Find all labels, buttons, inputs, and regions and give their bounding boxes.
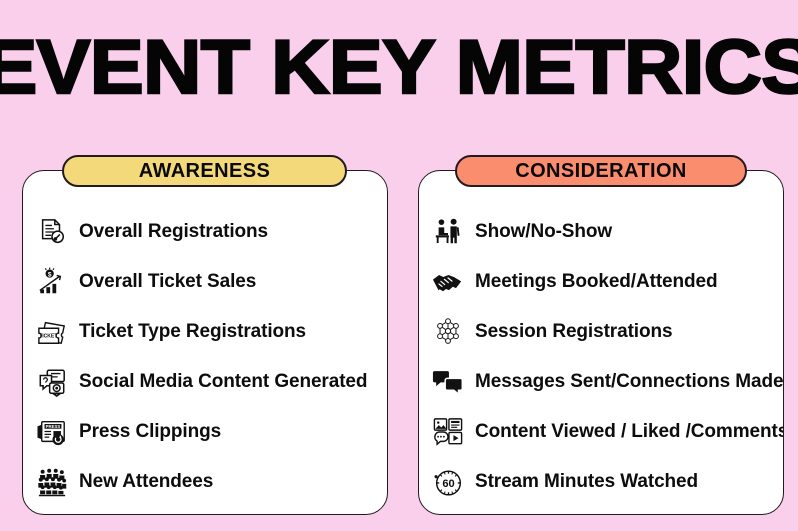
awareness-list: Overall Registrations $ xyxy=(23,207,387,507)
list-item[interactable]: 60 Stream Minutes Watched xyxy=(431,457,771,507)
crowd-icon xyxy=(35,465,69,499)
people-standing-sitting-icon xyxy=(431,215,465,249)
list-item[interactable]: Session Registrations xyxy=(431,307,771,357)
tickets-icon: TICKET xyxy=(35,315,69,349)
document-pen-icon xyxy=(35,215,69,249)
list-item-label: Social Media Content Generated xyxy=(79,371,367,393)
list-item-label: Stream Minutes Watched xyxy=(475,471,698,493)
list-item[interactable]: Show/No-Show xyxy=(431,207,771,257)
awareness-card: Overall Registrations $ xyxy=(22,170,388,515)
list-item-label: New Attendees xyxy=(79,471,213,493)
list-item-label: Content Viewed / Liked /Comments xyxy=(475,421,784,443)
list-item-label: Overall Ticket Sales xyxy=(79,271,256,293)
list-item[interactable]: Social Media Content Generated xyxy=(35,357,375,407)
list-item-label: Press Clippings xyxy=(79,421,221,443)
consideration-header-pill: CONSIDERATION xyxy=(455,155,747,187)
list-item[interactable]: TICKET Ticket Type Registrations xyxy=(35,307,375,357)
list-item[interactable]: Content Viewed / Liked /Comments xyxy=(431,407,771,457)
newspaper-press-icon: PRESS xyxy=(35,415,69,449)
consideration-header-label: CONSIDERATION xyxy=(515,160,687,183)
list-item[interactable]: $ Overall Ticket Sales xyxy=(35,257,375,307)
list-item[interactable]: Meetings Booked/Attended xyxy=(431,257,771,307)
list-item[interactable]: Messages Sent/Connections Made xyxy=(431,357,771,407)
column-awareness: Overall Registrations $ xyxy=(22,170,388,515)
awareness-header-label: AWARENESS xyxy=(139,160,270,183)
list-item-label: Meetings Booked/Attended xyxy=(475,271,718,293)
list-item-label: Messages Sent/Connections Made xyxy=(475,371,783,393)
list-item-label: Session Registrations xyxy=(475,321,672,343)
social-media-icon xyxy=(35,365,69,399)
content-grid-icon xyxy=(431,415,465,449)
consideration-card: Show/No-Show Meetings Booked/Attended xyxy=(418,170,784,515)
list-item-label: Overall Registrations xyxy=(79,221,268,243)
svg-text:$: $ xyxy=(48,271,52,278)
awareness-header-pill: AWARENESS xyxy=(62,155,347,187)
list-item[interactable]: New Attendees xyxy=(35,457,375,507)
svg-text:TICKET: TICKET xyxy=(39,334,58,340)
svg-text:PRESS: PRESS xyxy=(45,424,60,429)
list-item-label: Show/No-Show xyxy=(475,221,612,243)
list-item[interactable]: PRESS Press Clippings xyxy=(35,407,375,457)
stopwatch-60-icon: 60 xyxy=(431,465,465,499)
network-nodes-icon xyxy=(431,315,465,349)
metrics-board: Overall Registrations $ xyxy=(0,0,798,531)
growth-chart-coin-icon: $ xyxy=(35,265,69,299)
consideration-list: Show/No-Show Meetings Booked/Attended xyxy=(419,207,783,507)
list-item-label: Ticket Type Registrations xyxy=(79,321,306,343)
chat-bubbles-icon xyxy=(431,365,465,399)
handshake-icon xyxy=(431,265,465,299)
list-item[interactable]: Overall Registrations xyxy=(35,207,375,257)
svg-text:60: 60 xyxy=(442,478,454,490)
column-consideration: Show/No-Show Meetings Booked/Attended xyxy=(418,170,784,515)
